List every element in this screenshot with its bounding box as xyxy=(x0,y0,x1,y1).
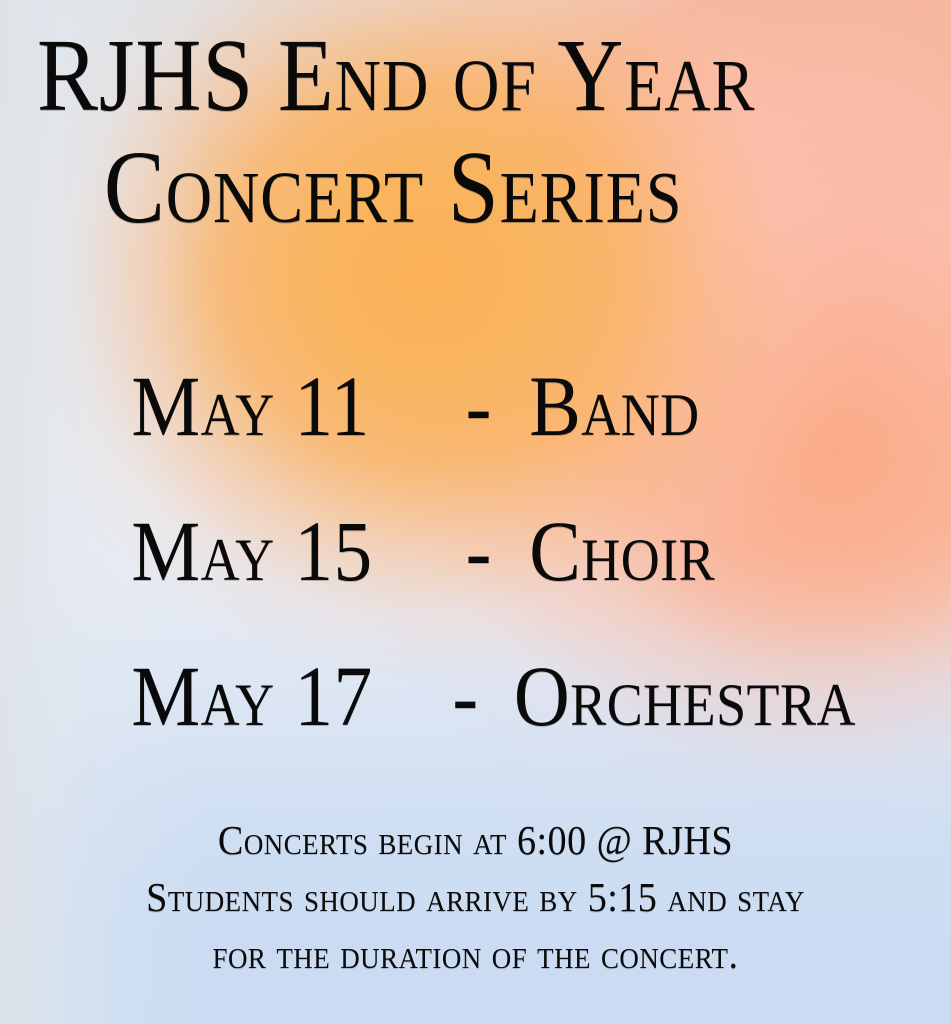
schedule-row: May 17 - Orchestra xyxy=(0,648,856,793)
schedule-group: Choir xyxy=(529,503,715,599)
schedule-date: May 15 xyxy=(131,503,428,599)
title-line-1: RJHS End of Year xyxy=(0,20,837,132)
concert-poster: RJHS End of Year Concert Series May 11 -… xyxy=(0,0,951,1024)
fine-print-block: Concerts begin at 6:00 @ RJHS Students s… xyxy=(0,812,951,983)
fine-print-line-3: for the duration of the concert. xyxy=(33,926,917,983)
schedule-date: May 11 xyxy=(131,358,428,454)
poster-title: RJHS End of Year Concert Series xyxy=(0,20,951,244)
schedule-row: May 15 - Choir xyxy=(0,503,856,648)
fine-print-line-1: Concerts begin at 6:00 @ RJHS xyxy=(33,812,917,869)
title-line-2: Concert Series xyxy=(0,132,837,244)
schedule-group: Band xyxy=(529,358,699,454)
concert-schedule-list: May 11 - Band May 15 - Choir May 17 - Or… xyxy=(0,358,951,793)
fine-print-line-2: Students should arrive by 5:15 and stay xyxy=(33,869,917,926)
schedule-separator: - xyxy=(428,358,529,454)
schedule-row: May 11 - Band xyxy=(0,358,856,503)
schedule-separator: - xyxy=(428,503,529,599)
schedule-date: May 17 xyxy=(131,648,417,744)
schedule-separator: - xyxy=(417,648,514,744)
schedule-group: Orchestra xyxy=(514,648,856,744)
